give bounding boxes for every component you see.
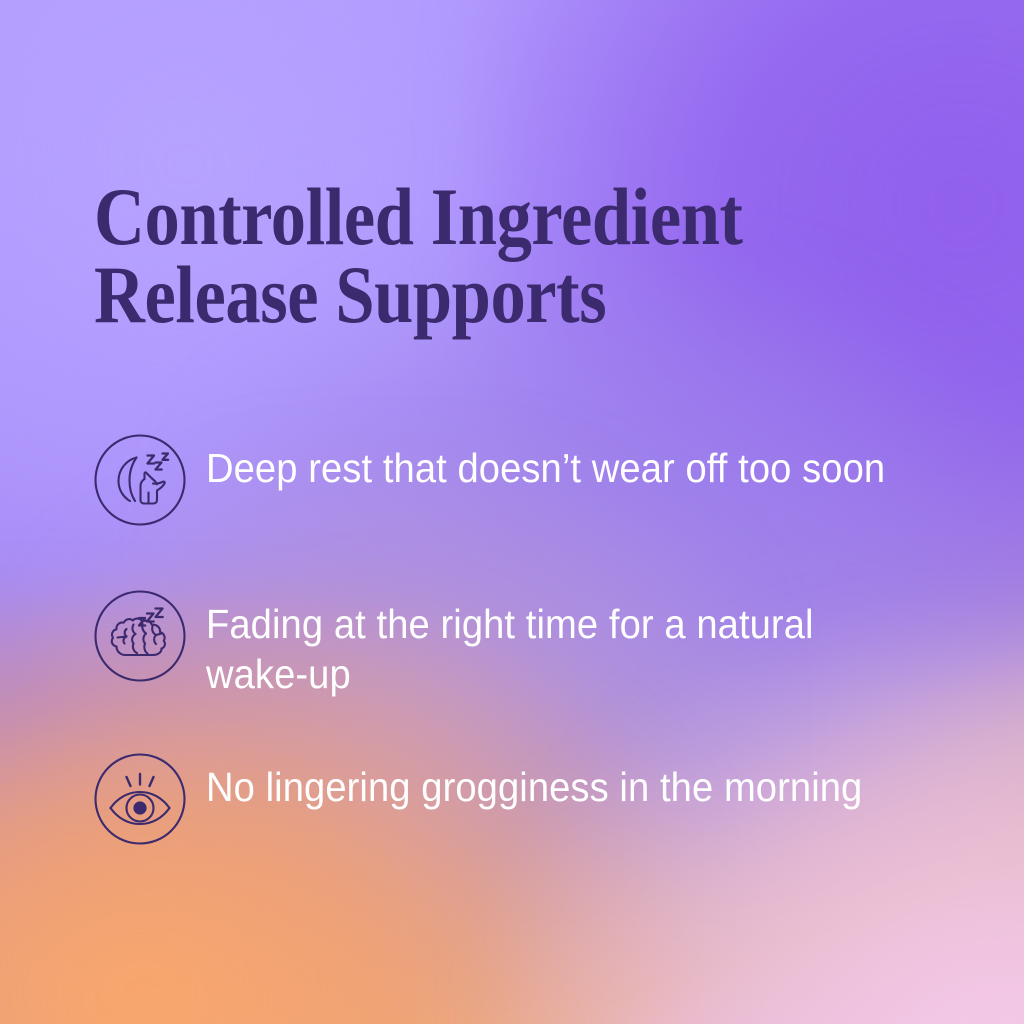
benefit-label: No lingering grogginess in the morning — [206, 751, 918, 812]
benefit-item: No lingering grogginess in the morning — [92, 751, 972, 847]
headline: Controlled Ingredient Release Supports — [94, 178, 825, 334]
benefit-item: Deep rest that doesn’t wear off too soon — [92, 432, 972, 528]
benefit-label: Deep rest that doesn’t wear off too soon — [206, 432, 918, 493]
benefit-label: Fading at the right time for a natural w… — [206, 588, 918, 699]
open-eye-icon — [92, 751, 188, 847]
brain-zzz-icon — [92, 588, 188, 684]
promo-card: Controlled Ingredient Release Supports — [0, 0, 1024, 1024]
benefit-item: Fading at the right time for a natural w… — [92, 588, 972, 699]
moon-sleeping-cat-zzz-icon — [92, 432, 188, 528]
benefits-list: Deep rest that doesn’t wear off too soon — [92, 432, 972, 847]
card-content: Controlled Ingredient Release Supports — [0, 0, 1024, 1024]
